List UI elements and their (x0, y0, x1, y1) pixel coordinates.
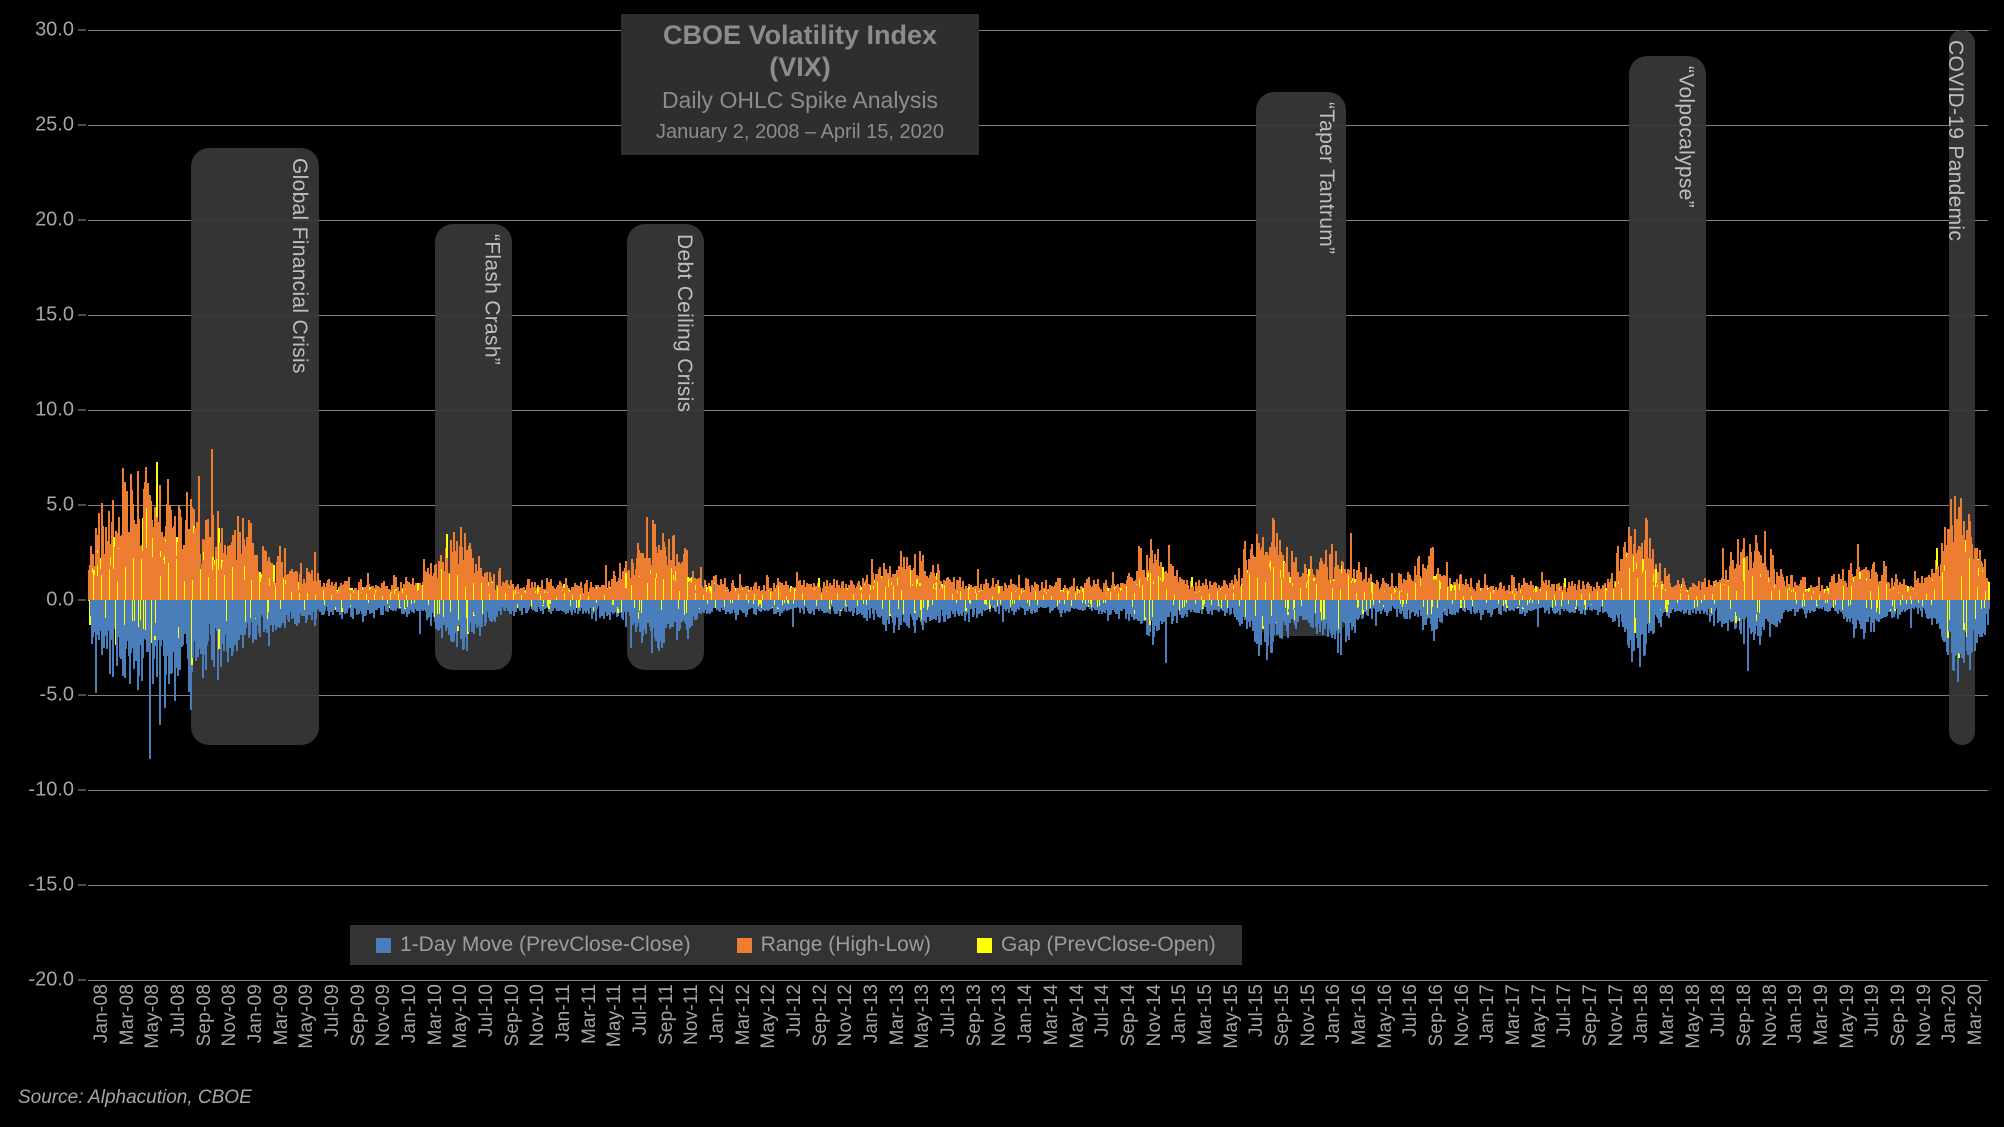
y-axis-tick-mark (78, 600, 86, 601)
y-axis-tick-label: -20.0 (28, 969, 74, 992)
plot-area: Global Financial Crisis“Flash Crash”Debt… (88, 30, 1988, 980)
y-axis-tick-mark (78, 220, 86, 221)
y-axis-tick-label: -10.0 (28, 779, 74, 802)
y-axis-tick-mark (78, 790, 86, 791)
y-axis-tick-label: 5.0 (46, 494, 74, 517)
y-axis-tick-label: 20.0 (35, 209, 74, 232)
y-axis-tick-label: -5.0 (40, 684, 74, 707)
y-axis-tick-label: 25.0 (35, 114, 74, 137)
y-axis-tick-label: -15.0 (28, 874, 74, 897)
y-axis: 30.025.020.015.010.05.00.0-5.0-10.0-15.0… (0, 30, 88, 980)
y-axis-tick-mark (78, 125, 86, 126)
gridline (88, 980, 1988, 981)
y-axis-tick-label: 15.0 (35, 304, 74, 327)
y-axis-tick-mark (78, 30, 86, 31)
y-axis-tick-mark (78, 315, 86, 316)
y-axis-tick-mark (78, 695, 86, 696)
y-axis-tick-label: 10.0 (35, 399, 74, 422)
y-axis-tick-mark (78, 885, 86, 886)
y-axis-tick-mark (78, 410, 86, 411)
y-axis-tick-mark (78, 505, 86, 506)
y-axis-tick-mark (78, 980, 86, 981)
series-layer (88, 30, 1988, 980)
y-axis-tick-label: 30.0 (35, 19, 74, 42)
y-axis-tick-label: 0.0 (46, 589, 74, 612)
